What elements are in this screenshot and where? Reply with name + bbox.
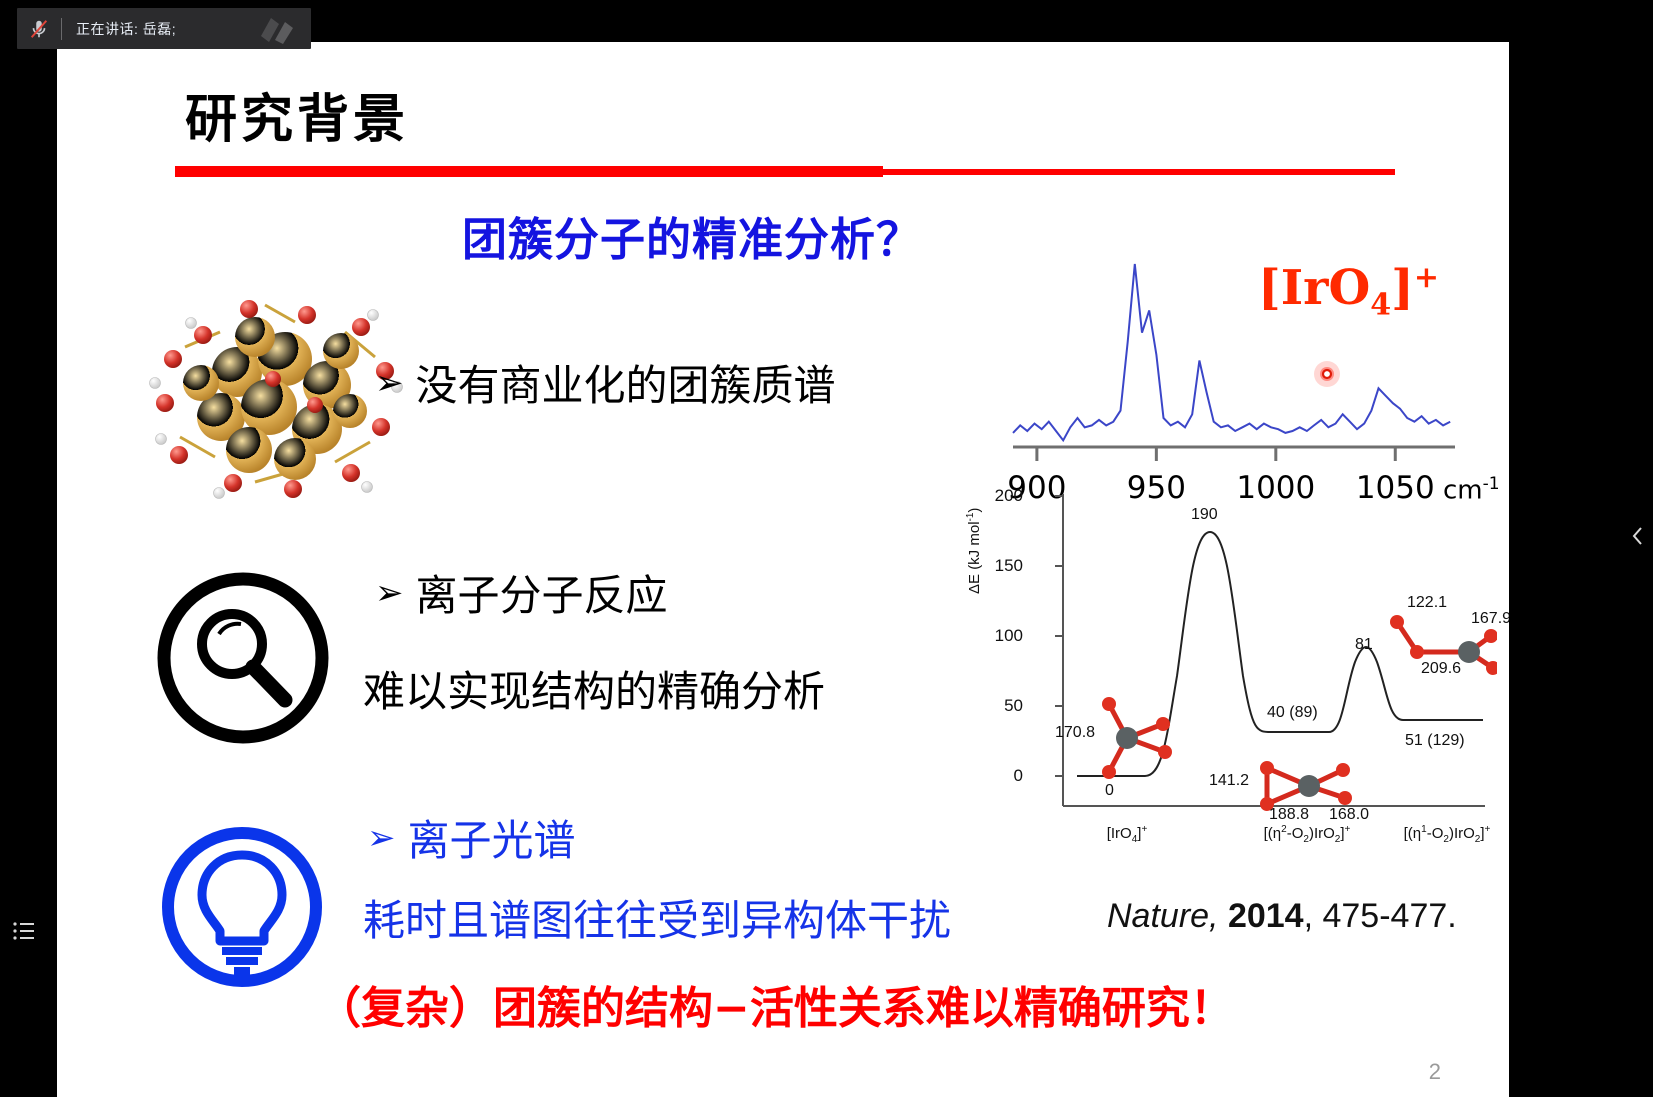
bond-length-label: 141.2 — [1209, 772, 1249, 790]
energy-value-label: 0 — [1105, 782, 1114, 800]
bullet-label: 没有商业化的团簇质谱 — [416, 362, 836, 409]
molecule-iro4 — [1102, 697, 1172, 779]
headline: 团簇分子的精准分析？ — [462, 203, 922, 268]
energy-profile-plot — [977, 476, 1497, 851]
screen: 研究背景 团簇分子的精准分析？ — [0, 0, 1653, 1097]
bullet-subline: 难以实现结构的精确分析 — [363, 658, 825, 719]
bond-length-label: 209.6 — [1421, 660, 1461, 678]
gold-nanocluster-icon — [145, 287, 410, 502]
bond-length-label: 168.0 — [1329, 806, 1369, 824]
ir-spectrum-chart: [IrO4]+ 90095010001050 cm-1 — [985, 242, 1485, 512]
bullet-arrow-icon: ➢ — [375, 576, 404, 610]
energy-ytick-label: 50 — [977, 696, 1023, 716]
bond-length-label: 170.8 — [1055, 724, 1095, 742]
active-speaker-banner[interactable]: 正在讲话: 岳磊; — [17, 8, 311, 49]
page-title: 研究背景 — [185, 77, 409, 152]
bullet-item: ➢ 离子光谱 — [367, 817, 576, 864]
citation-year: 2014 — [1228, 897, 1304, 935]
bullet-label: 离子光谱 — [408, 817, 576, 864]
slide-canvas: 研究背景 团簇分子的精准分析？ — [57, 42, 1509, 1097]
list-view-icon[interactable] — [10, 917, 38, 945]
citation-journal: Nature, — [1107, 897, 1219, 935]
bullet-subline: 耗时且谱图往往受到异构体干扰 — [363, 887, 951, 948]
bond-length-label: 188.8 — [1269, 806, 1309, 824]
bond-length-label: 167.9 — [1471, 610, 1509, 628]
ir-spectrum-title: [IrO4]+ — [1258, 260, 1439, 323]
energy-value-label: 81 — [1355, 636, 1373, 654]
mic-muted-icon[interactable] — [17, 18, 61, 40]
energy-ytick-label: 100 — [977, 626, 1023, 646]
bullet-item: ➢ 离子分子反应 — [375, 572, 668, 619]
title-rule-thick — [175, 166, 883, 177]
molecule-eta2 — [1260, 761, 1352, 811]
red-dot-marker — [1314, 361, 1340, 387]
page-number: 2 — [1429, 1059, 1441, 1085]
energy-xtick-label: [IrO4]+ — [1107, 824, 1148, 845]
energy-ytick-label: 150 — [977, 556, 1023, 576]
bullet-arrow-icon: ➢ — [367, 821, 396, 855]
bullet-item: ➢ 没有商业化的团簇质谱 — [375, 362, 836, 409]
energy-xtick-label: [(η1-O2)IrO2]+ — [1404, 824, 1491, 845]
energy-ytick-label: 0 — [977, 766, 1023, 786]
title-rule-thin — [883, 169, 1395, 175]
citation: Nature, 2014, 475-477. — [1107, 897, 1457, 936]
active-speaker-label: 正在讲话: 岳磊; — [62, 19, 176, 39]
energy-xtick-label: [(η2-O2)IrO2]+ — [1264, 824, 1351, 845]
energy-value-label: 51 (129) — [1405, 732, 1465, 750]
energy-value-label: 190 — [1191, 506, 1218, 524]
left-rail — [0, 42, 57, 1097]
energy-profile-chart: ΔE (kJ mol-1) 050100150200 — [977, 476, 1497, 851]
energy-ytick-label: 200 — [977, 486, 1023, 506]
lightbulb-icon — [162, 827, 322, 987]
conclusion-text: （复杂）团簇的结构−活性关系难以精确研究！ — [317, 972, 1234, 1036]
magnifier-icon — [157, 572, 329, 744]
citation-pages: , 475-477. — [1304, 897, 1457, 935]
chevron-left-icon[interactable] — [1627, 516, 1649, 556]
energy-yaxis-label: ΔE (kJ mol-1) — [965, 508, 983, 594]
bond-length-label: 122.1 — [1407, 594, 1447, 612]
zoom-logo-icon — [249, 14, 301, 44]
bullet-label: 离子分子反应 — [416, 572, 668, 619]
bullet-arrow-icon: ➢ — [375, 366, 404, 400]
energy-value-label: 40 (89) — [1267, 704, 1318, 722]
